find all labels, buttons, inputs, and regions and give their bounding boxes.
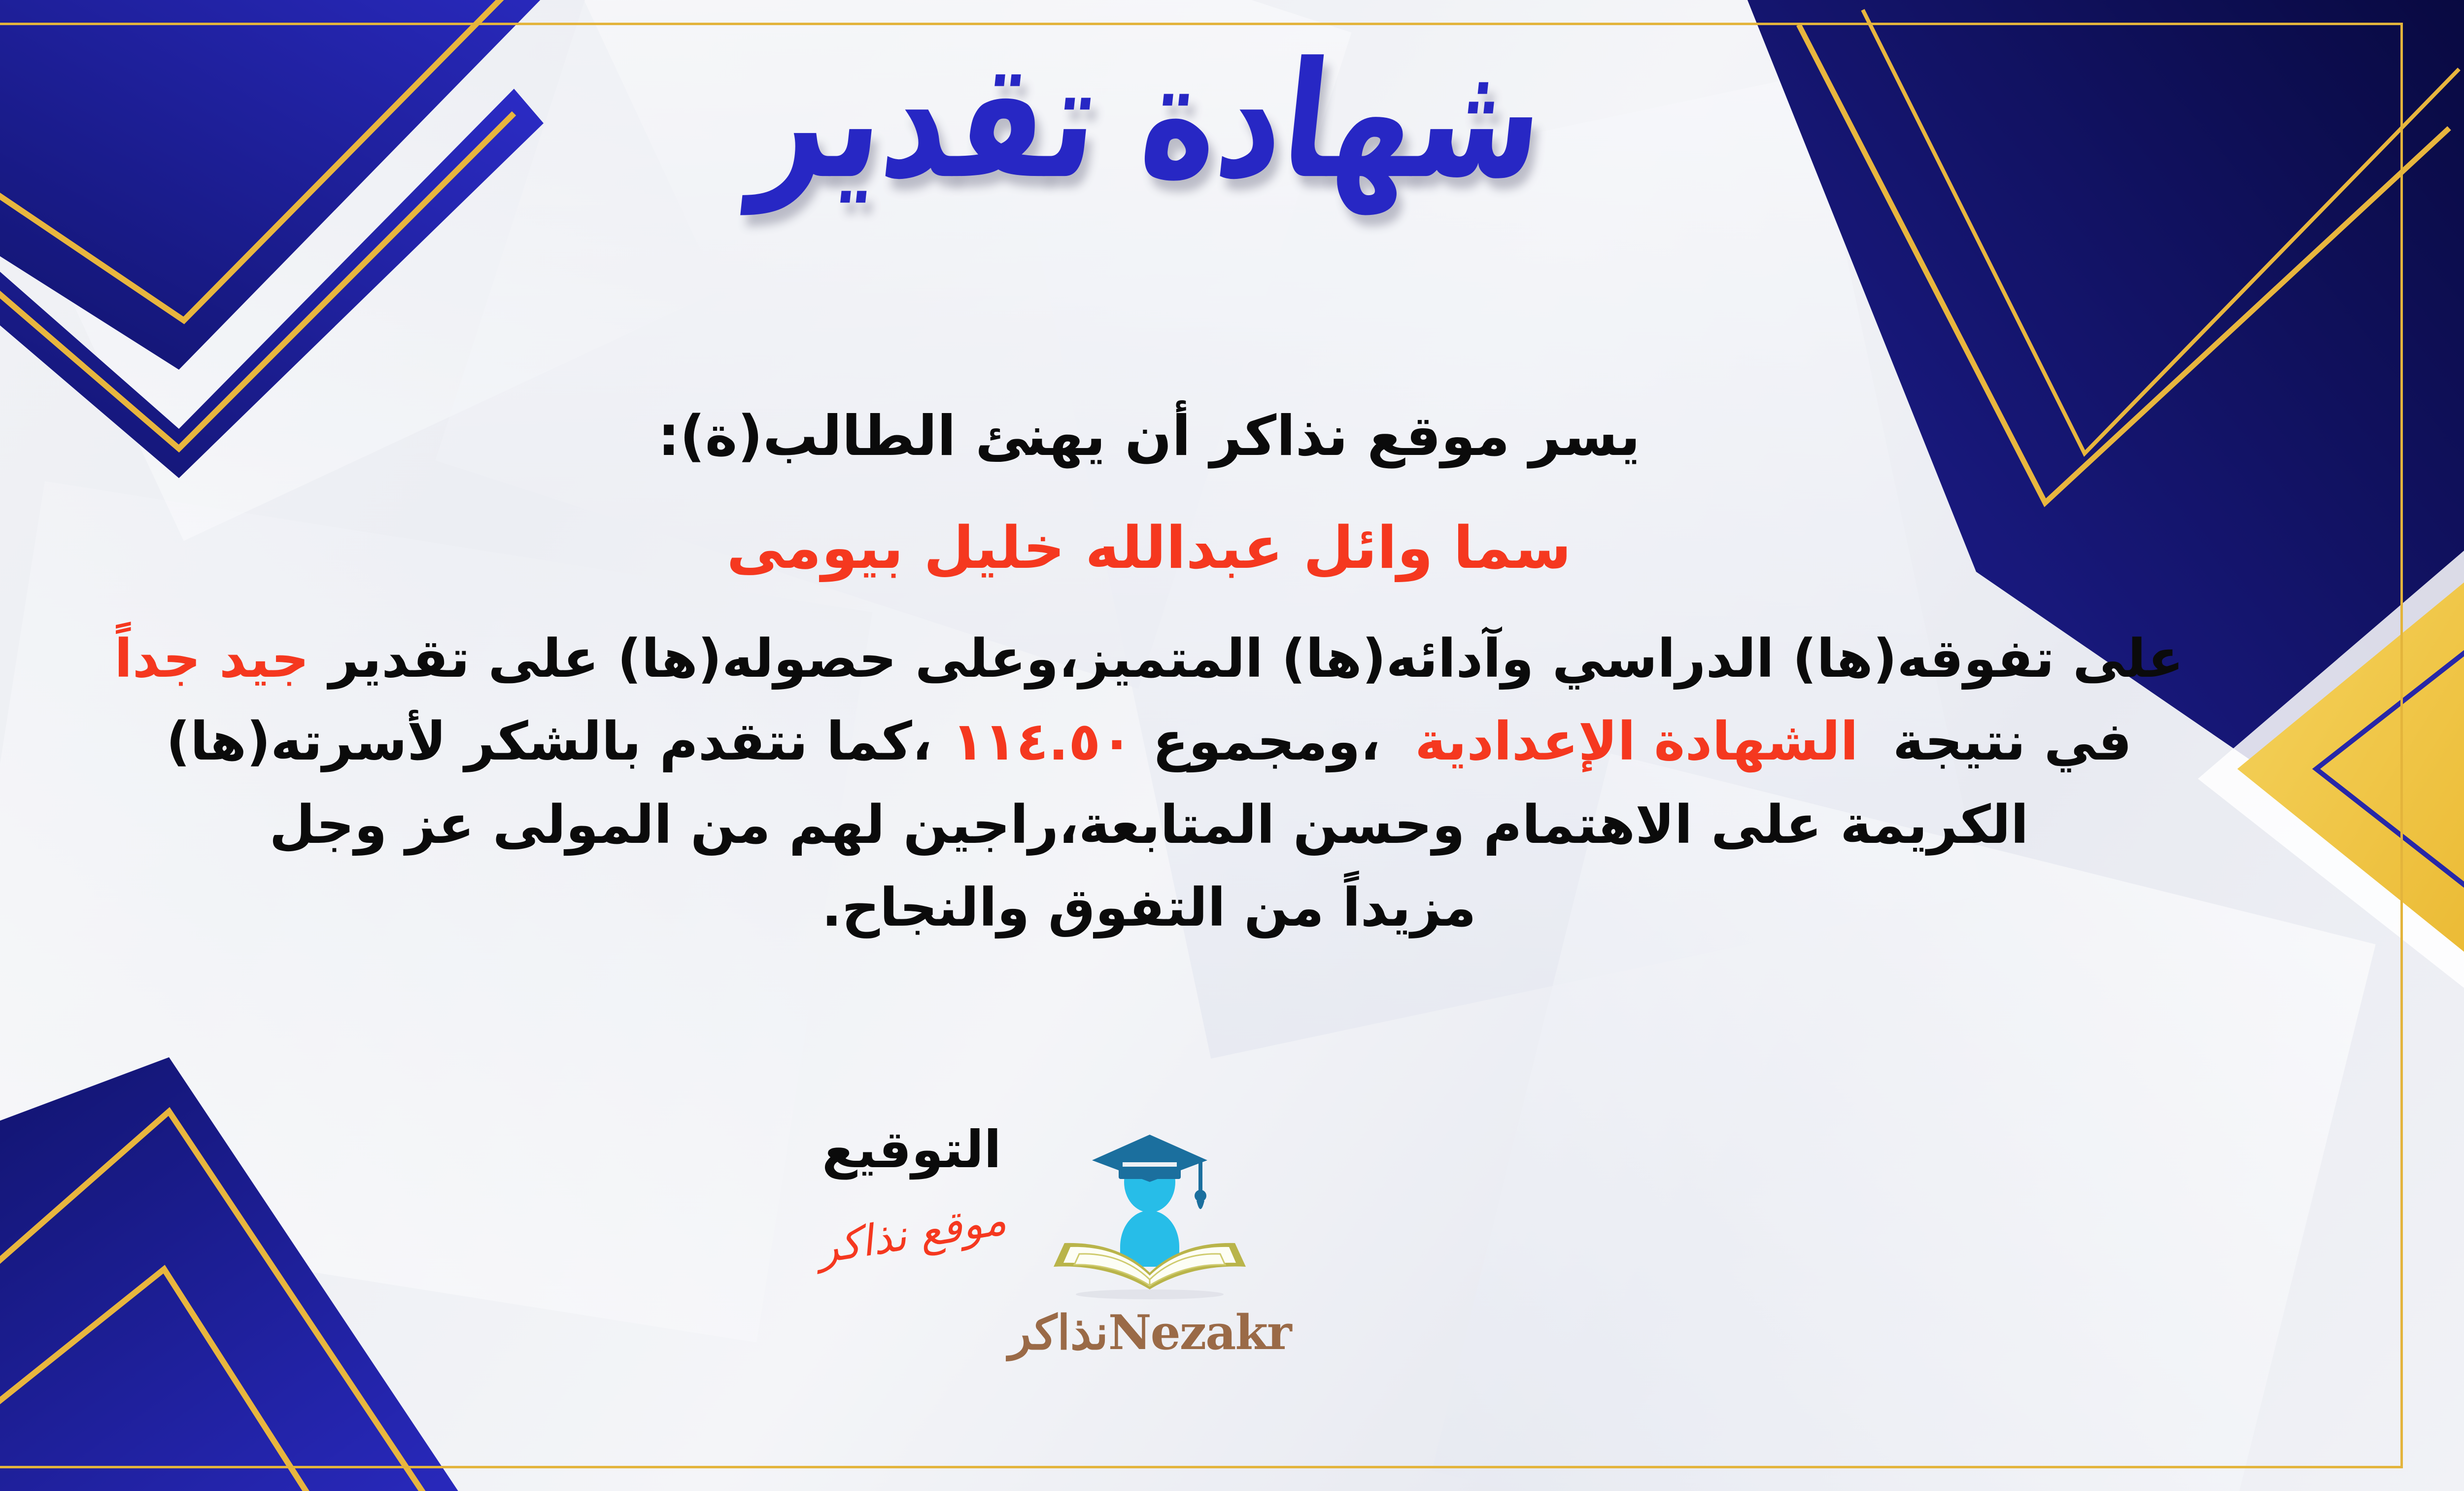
achievement-text: على تفوقه(ها) الدراسي وآدائه(ها) المتميز… — [329, 628, 2184, 690]
certificate-canvas: شهادة تقدير يسر موقع نذاكر أن يهنئ الطال… — [0, 0, 2464, 1491]
achievement-line: على تفوقه(ها) الدراسي وآدائه(ها) المتميز… — [0, 619, 2361, 699]
logo-wordmark-latin: Nezakr — [1108, 1305, 1291, 1360]
closing-line: مزيداً من التفوق والنجاح. — [0, 868, 2361, 948]
exam-line: في نتيجةالشهادة الإعدادية،ومجموع١١٤.٥٠،ك… — [0, 702, 2361, 782]
intro-line: يسر موقع نذاكر أن يهنئ الطالب(ة): — [0, 394, 2361, 478]
total-score: ١١٤.٥٠ — [952, 711, 1133, 772]
total-label: ،ومجموع — [1153, 711, 1380, 772]
logo-wordmark-arabic: نذاكر — [1008, 1305, 1108, 1360]
page-title: شهادة تقدير — [747, 37, 1551, 206]
student-name: سما وائل عبدالله خليل بيومى — [0, 504, 2361, 592]
exam-prefix: في نتيجة — [1893, 711, 2132, 772]
brand-logo: Nezakrنذاكر — [933, 1119, 1367, 1356]
grade-value: جيد جداً — [114, 628, 309, 690]
logo-wordmark: Nezakrنذاكر — [933, 1309, 1367, 1356]
family-thanks-line: الكريمة على الاهتمام وحسن المتابعة،راجين… — [0, 785, 2361, 866]
exam-name: الشهادة الإعدادية — [1415, 711, 1858, 772]
certificate-body: يسر موقع نذاكر أن يهنئ الطالب(ة): سما وا… — [0, 394, 2361, 951]
graduate-book-logo-icon — [1034, 1119, 1266, 1306]
thanks-text: ،كما نتقدم بالشكر لأسرته(ها) — [166, 711, 932, 772]
title-container: شهادة تقدير — [0, 54, 2464, 189]
blue-chevron-corner-bottom-left-icon — [0, 1057, 514, 1491]
